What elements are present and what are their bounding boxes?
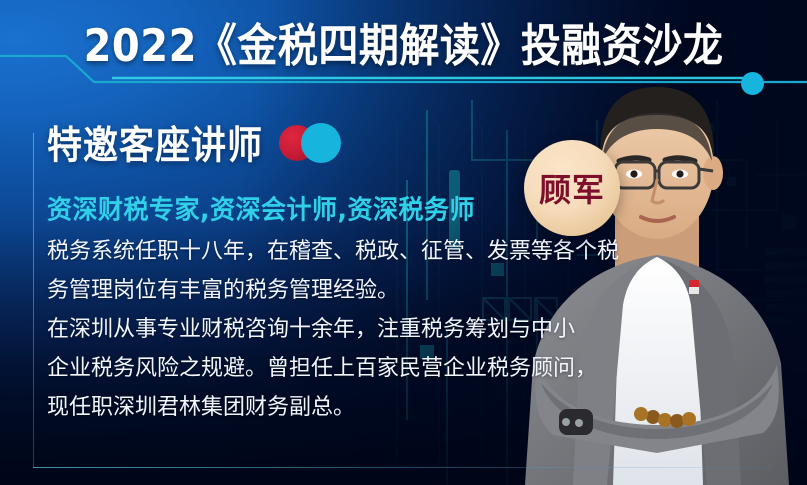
seminar-poster: 2022《金税四期解读》投融资沙龙 特邀客座讲师 资深财税专家,资深会计师,资深… — [0, 0, 807, 485]
bio-line: 现任职深圳君林集团财务副总。 — [47, 388, 587, 427]
section-heading-group: 特邀客座讲师 — [47, 117, 351, 168]
cyan-circle-icon — [301, 123, 341, 163]
decorative-dots — [279, 121, 351, 165]
page-title: 2022《金税四期解读》投融资沙龙 — [84, 10, 724, 75]
speaker-credentials: 资深财税专家,资深会计师,资深税务师 — [47, 189, 475, 227]
bio-line: 税务系统任职十八年，在稽查、税政、征管、发票等各个税 — [47, 232, 587, 271]
speaker-bio: 税务系统任职十八年，在稽查、税政、征管、发票等各个税 务管理岗位有丰富的税务管理… — [47, 232, 587, 427]
speaker-name-badge: 顾军 — [524, 140, 620, 236]
poster-title-band: 2022《金税四期解读》投融资沙龙 — [0, 0, 807, 84]
frame-line-vertical — [33, 133, 34, 468]
bio-line: 企业税务风险之规避。曾担任上百家民营企业税务顾问， — [47, 349, 587, 388]
speaker-name: 顾军 — [539, 165, 605, 211]
frame-line-horizontal — [33, 467, 773, 468]
bio-line: 务管理岗位有丰富的税务管理经验。 — [47, 271, 587, 310]
bio-line: 在深圳从事专业财税咨询十余年，注重税务筹划与中小 — [47, 310, 587, 349]
section-heading: 特邀客座讲师 — [47, 114, 263, 170]
